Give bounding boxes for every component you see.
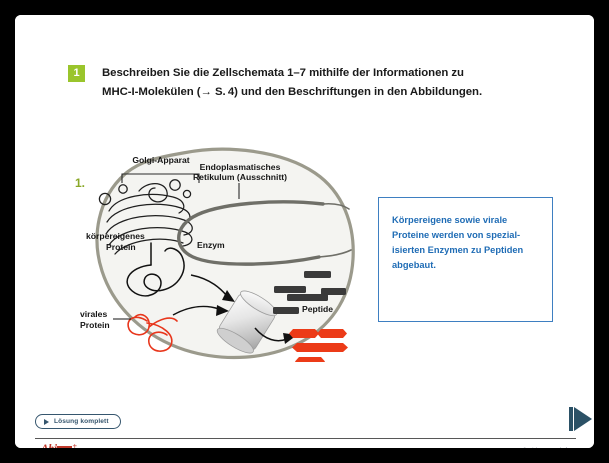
brand-logo-plus: + — [72, 443, 77, 451]
next-page-button[interactable] — [569, 406, 596, 432]
screenshot-root: 1 Beschreiben Sie die Zellschemata 1–7 m… — [0, 0, 609, 463]
solution-complete-label: Lösung komplett — [54, 418, 109, 425]
label-viral-protein-line-1: virales — [80, 309, 107, 320]
answer-info-text: Körpereigene sowie virale Proteine werde… — [379, 198, 552, 273]
answer-line-4: abgebaut. — [392, 258, 539, 273]
task-instruction-line-1: Beschreiben Sie die Zellschemata 1–7 mit… — [102, 64, 482, 83]
brand-logo-prefix: Abi — [41, 444, 57, 456]
brand-logo-box: box — [57, 446, 72, 456]
solution-complete-button[interactable]: Lösung komplett — [35, 414, 121, 429]
play-triangle-icon — [44, 419, 49, 425]
label-self-protein-line-2: Protein — [106, 242, 136, 253]
figure-number-label: 1. — [75, 176, 85, 190]
answer-line-2: Proteine werden von spezial- — [392, 228, 539, 243]
next-arrow-bar-icon — [569, 407, 573, 431]
window-frame: 1 Beschreiben Sie die Zellschemata 1–7 m… — [7, 7, 602, 456]
peptide-bars-red — [289, 329, 348, 362]
footer-divider — [35, 438, 576, 439]
label-self-protein-line-1: körpereigenes — [86, 231, 145, 242]
page-content: 1 Beschreiben Sie die Zellschemata 1–7 m… — [15, 15, 594, 448]
answer-line-3: isierten Enzymen zu Peptiden — [392, 243, 539, 258]
task-instruction-text: Beschreiben Sie die Zellschemata 1–7 mit… — [102, 64, 482, 102]
task-header: 1 Beschreiben Sie die Zellschemata 1–7 m… — [68, 64, 548, 102]
copyright-text: © Brinkmann.Meyhöfer — [523, 447, 571, 452]
task-number-badge: 1 — [68, 65, 85, 82]
label-enzym: Enzym — [197, 240, 225, 251]
answer-line-1: Körpereigene sowie virale — [392, 213, 539, 228]
cell-diagram: Golgi-Apparat Endoplasmatisches Retikulu… — [87, 147, 362, 362]
brand-logo: Abi box + — [41, 444, 77, 456]
label-viral-protein-line-2: Protein — [80, 320, 110, 331]
answer-info-box: Körpereigene sowie virale Proteine werde… — [378, 197, 553, 322]
label-er-line-2: Retikulum (Ausschnitt) — [179, 172, 301, 183]
label-peptide: Peptide — [302, 304, 333, 315]
next-arrow-triangle-icon — [574, 407, 592, 431]
task-instruction-line-2: MHC-I-Molekülen (→ S. 4) und den Beschri… — [102, 83, 482, 102]
